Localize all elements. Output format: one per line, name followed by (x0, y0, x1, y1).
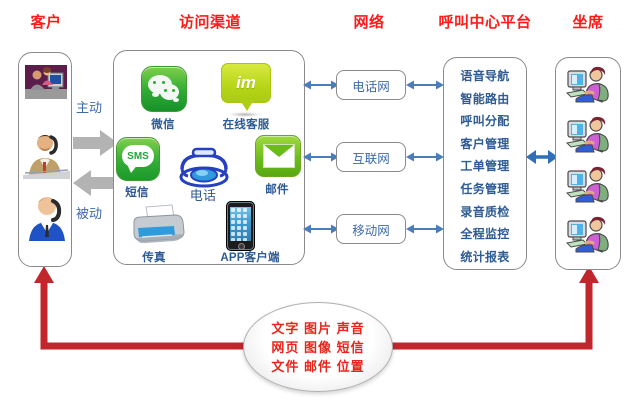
mobile-app-icon[interactable] (226, 201, 255, 251)
platform-feature[interactable]: 统计报表 (460, 246, 509, 269)
agent-workstation-1[interactable] (566, 66, 610, 102)
column-title-agent: 坐席 (552, 14, 624, 32)
platform-box: 语音导航 智能路由 呼叫分配 客户管理 工单管理 任务管理 录音质检 全程监控 … (443, 57, 527, 270)
arrow-channel-internet-network (303, 150, 339, 164)
arrow-network-mobile-platform (406, 222, 444, 236)
platform-feature[interactable]: 全程监控 (460, 223, 509, 246)
arrow-channel-mobile-network (303, 222, 339, 236)
media-row-3: 文件 邮件 位置 (271, 357, 364, 376)
customer-box (18, 52, 72, 267)
column-title-channel: 访问渠道 (150, 14, 270, 32)
arrow-customer-to-channel (73, 130, 118, 156)
column-title-customer: 客户 (2, 14, 90, 32)
platform-feature[interactable]: 语音导航 (460, 65, 509, 88)
arrow-network-telephone-platform (406, 78, 444, 92)
telephone-icon[interactable] (176, 143, 232, 187)
platform-feature[interactable]: 录音质检 (460, 201, 509, 224)
platform-feature[interactable]: 任务管理 (460, 178, 509, 201)
platform-feature[interactable]: 智能路由 (460, 88, 509, 111)
network-box-mobile[interactable]: 移动网 (336, 214, 406, 244)
agent-workstation-3[interactable] (566, 166, 610, 202)
channel-label-wechat: 微信 (128, 116, 198, 132)
sms-icon[interactable]: SMS (116, 137, 160, 181)
online-service-im-icon[interactable]: im (221, 63, 269, 119)
diagram-canvas: 客户 访问渠道 网络 呼叫中心平台 坐席 (0, 0, 633, 404)
column-title-network: 网络 (330, 14, 408, 32)
flow-label-active: 主动 (76, 97, 102, 116)
channel-label-sms: 短信 (111, 184, 163, 200)
platform-feature[interactable]: 呼叫分配 (460, 110, 509, 133)
agent-workstation-2[interactable] (566, 116, 610, 152)
arrow-platform-agents (526, 148, 558, 166)
agent-workstation-4[interactable] (566, 216, 610, 252)
customer-photo-man-phone (23, 131, 70, 179)
channel-label-online-service: 在线客服 (210, 116, 282, 132)
media-types-oval: 文字 图片 声音 网页 图像 短信 文件 邮件 位置 (243, 302, 393, 392)
agents-box (555, 57, 621, 270)
arrow-network-internet-platform (406, 150, 444, 164)
network-box-internet[interactable]: 互联网 (336, 142, 406, 172)
network-box-telephone[interactable]: 电话网 (336, 70, 406, 100)
email-icon[interactable] (255, 135, 301, 177)
channel-label-app-client: APP客户端 (201, 249, 299, 265)
fax-printer-icon[interactable] (128, 204, 186, 246)
customer-photo-businessman-phone (27, 193, 67, 241)
flow-label-passive: 被动 (76, 203, 102, 222)
platform-feature[interactable]: 工单管理 (460, 155, 509, 178)
channel-label-telephone: 电话 (170, 185, 236, 204)
wechat-icon[interactable] (141, 66, 187, 112)
channel-box: 微信 im 在线客服 SMS 短信 电话 邮件 (113, 50, 305, 265)
customer-photo-service-desk (25, 65, 67, 99)
media-row-2: 网页 图像 短信 (271, 338, 364, 357)
platform-feature[interactable]: 客户管理 (460, 133, 509, 156)
channel-label-email: 邮件 (247, 181, 307, 197)
channel-label-fax: 传真 (126, 249, 182, 265)
media-row-1: 文字 图片 声音 (271, 319, 364, 338)
column-title-platform: 呼叫中心平台 (420, 14, 550, 32)
arrow-channel-telephone-network (303, 78, 339, 92)
